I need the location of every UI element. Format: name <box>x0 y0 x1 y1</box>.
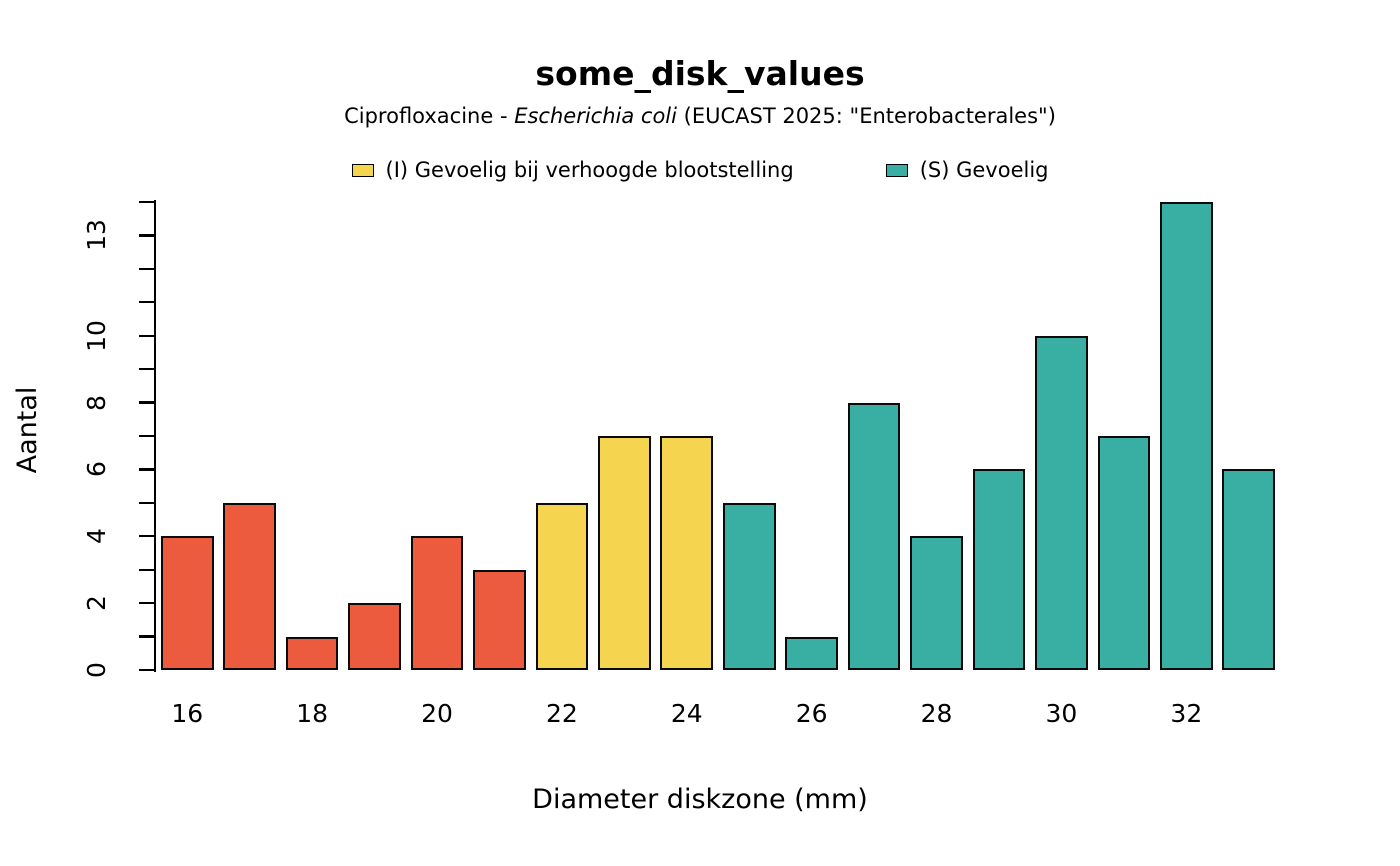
y-axis-tick-label: 10 <box>72 323 122 349</box>
legend-item[interactable]: (S) Gevoelig <box>886 158 1049 182</box>
y-axis-tick <box>139 368 155 370</box>
y-axis-tick <box>139 569 155 571</box>
bar[interactable] <box>223 503 276 670</box>
y-axis-tick <box>139 435 155 437</box>
bar[interactable] <box>286 637 339 670</box>
bar[interactable] <box>910 536 963 670</box>
y-axis-title-text: Aantal <box>12 387 44 474</box>
bar[interactable] <box>785 637 838 670</box>
x-axis-tick-label: 24 <box>671 700 703 728</box>
y-axis-tick-label-text: 0 <box>84 662 110 678</box>
bar[interactable] <box>348 603 401 670</box>
bar[interactable] <box>598 436 651 670</box>
x-axis-tick-label: 18 <box>296 700 328 728</box>
chart-title: some_disk_values <box>0 55 1400 93</box>
y-axis-tick-label-text: 10 <box>84 320 110 352</box>
subtitle-suffix: (EUCAST 2025: "Enterobacterales") <box>677 104 1056 128</box>
legend-item[interactable]: (I) Gevoelig bij verhoogde blootstelling <box>352 158 794 182</box>
y-axis-tick <box>139 535 155 537</box>
y-axis-tick <box>139 335 155 337</box>
y-axis-tick-label-text: 2 <box>84 595 110 611</box>
y-axis-tick <box>139 301 155 303</box>
x-axis-tick-label: 22 <box>546 700 578 728</box>
plot-area <box>156 202 1280 670</box>
y-axis-tick <box>139 669 155 671</box>
bar[interactable] <box>1098 436 1151 670</box>
bar[interactable] <box>723 503 776 670</box>
y-axis-tick-label: 0 <box>72 657 122 683</box>
chart-subtitle: Ciprofloxacine - Escherichia coli (EUCAS… <box>0 103 1400 129</box>
subtitle-prefix: Ciprofloxacine - <box>344 104 514 128</box>
y-axis-tick <box>139 201 155 203</box>
y-axis-tick-label-text: 13 <box>84 220 110 252</box>
bar[interactable] <box>1160 202 1213 670</box>
y-axis-tick <box>139 635 155 637</box>
y-axis-tick <box>139 602 155 604</box>
legend-swatch-icon <box>886 164 908 177</box>
chart-legend: (I) Gevoelig bij verhoogde blootstelling… <box>0 158 1400 182</box>
y-axis-tick-label-text: 6 <box>84 461 110 477</box>
bar[interactable] <box>161 536 214 670</box>
y-axis-tick <box>139 502 155 504</box>
legend-item-label: (S) Gevoelig <box>920 158 1049 182</box>
y-axis-tick-label: 13 <box>72 222 122 248</box>
y-axis-tick <box>139 234 155 236</box>
y-axis-tick-label: 2 <box>72 590 122 616</box>
y-axis-tick-label: 6 <box>72 456 122 482</box>
bar[interactable] <box>660 436 713 670</box>
y-axis-tick-label: 8 <box>72 390 122 416</box>
bar[interactable] <box>411 536 464 670</box>
subtitle-organism: Escherichia coli <box>514 104 677 128</box>
bar[interactable] <box>1222 469 1275 670</box>
x-axis-tick-label: 30 <box>1046 700 1078 728</box>
y-axis-tick <box>139 268 155 270</box>
bar[interactable] <box>1035 336 1088 670</box>
y-axis-tick <box>139 401 155 403</box>
y-axis-tick <box>139 468 155 470</box>
y-axis-title: Aantal <box>8 330 48 530</box>
bar[interactable] <box>973 469 1026 670</box>
legend-swatch-icon <box>352 164 374 177</box>
x-axis-tick-label: 32 <box>1170 700 1202 728</box>
bar[interactable] <box>848 403 901 670</box>
x-axis-tick-label: 16 <box>171 700 203 728</box>
x-axis-tick-label: 26 <box>796 700 828 728</box>
chart-figure: some_disk_values Ciprofloxacine - Escher… <box>0 0 1400 866</box>
x-axis-tick-label: 28 <box>921 700 953 728</box>
legend-item-label: (I) Gevoelig bij verhoogde blootstelling <box>386 158 794 182</box>
x-axis-title: Diameter diskzone (mm) <box>0 784 1400 816</box>
x-axis-tick-label: 20 <box>421 700 453 728</box>
bar[interactable] <box>536 503 589 670</box>
bar-series <box>156 202 1280 670</box>
bar[interactable] <box>473 570 526 670</box>
y-axis-tick-label-text: 4 <box>84 528 110 544</box>
y-axis-tick-label-text: 8 <box>84 395 110 411</box>
y-axis-tick-label: 4 <box>72 523 122 549</box>
